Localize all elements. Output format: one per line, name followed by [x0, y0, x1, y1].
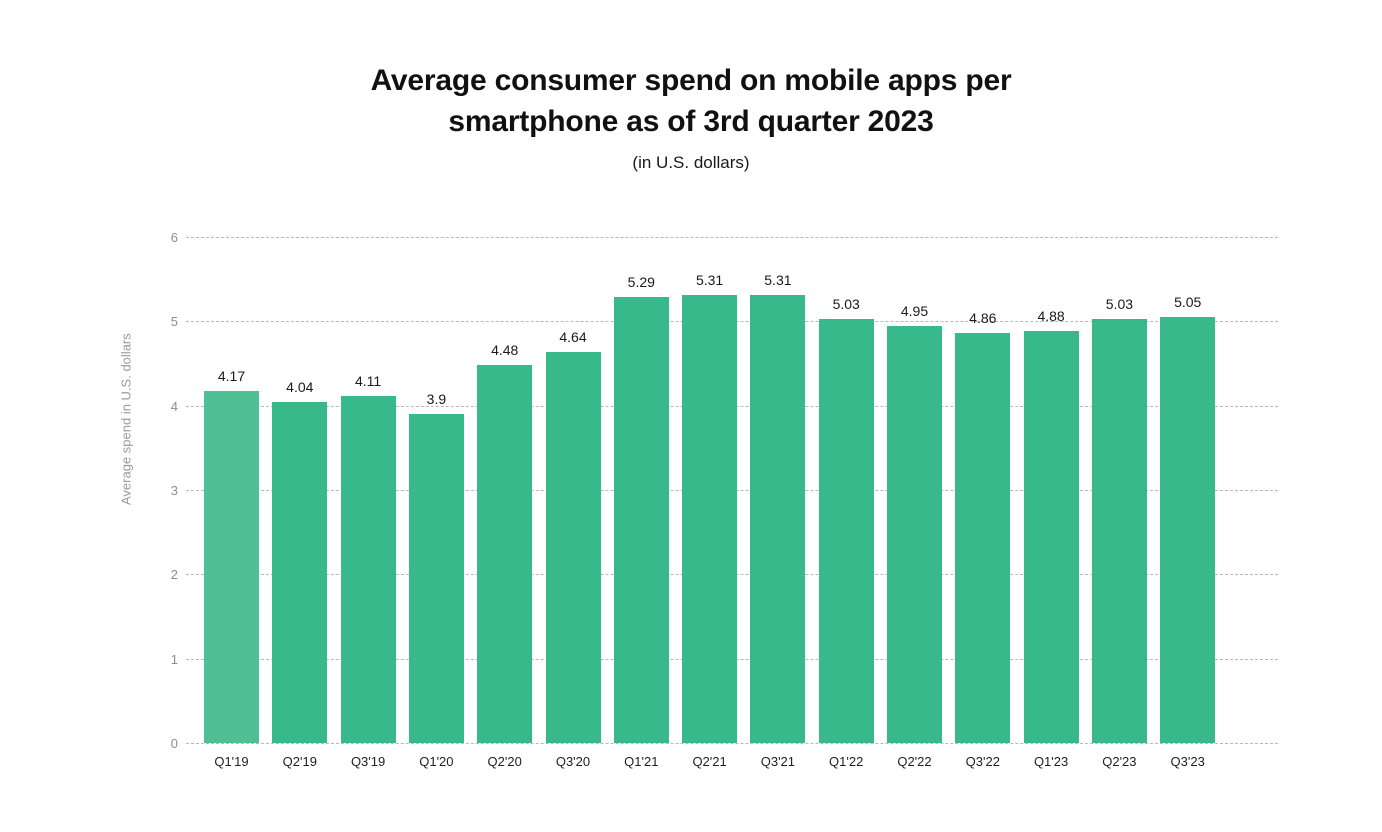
y-tick-label: 2: [138, 568, 178, 581]
bar[interactable]: [1160, 317, 1215, 743]
bar[interactable]: [750, 295, 805, 743]
bar-value-label: 5.31: [670, 273, 749, 287]
x-tick-label: Q2'19: [260, 755, 339, 768]
y-tick-label: 4: [138, 400, 178, 413]
x-tick-label: Q1'19: [192, 755, 271, 768]
y-axis-title: Average spend in U.S. dollars: [119, 475, 134, 505]
bar[interactable]: [477, 365, 532, 743]
x-tick-label: Q2'22: [875, 755, 954, 768]
chart-container: Average consumer spend on mobile apps pe…: [0, 0, 1382, 832]
bar-value-label: 5.29: [602, 275, 681, 289]
x-tick-label: Q3'23: [1148, 755, 1227, 768]
bar[interactable]: [955, 333, 1010, 743]
x-tick-label: Q1'21: [602, 755, 681, 768]
bar[interactable]: [682, 295, 737, 743]
gridline: [186, 237, 1278, 238]
bar[interactable]: [341, 396, 396, 743]
bar-value-label: 4.04: [260, 380, 339, 394]
x-tick-label: Q3'20: [534, 755, 613, 768]
bar[interactable]: [272, 402, 327, 743]
bar-value-label: 4.17: [192, 369, 271, 383]
bar-value-label: 4.11: [329, 374, 408, 388]
plot-area: Average spend in U.S. dollars 0123456 4.…: [0, 0, 1382, 832]
x-tick-label: Q3'22: [943, 755, 1022, 768]
x-tick-label: Q1'22: [807, 755, 886, 768]
bar[interactable]: [1092, 319, 1147, 743]
x-tick-label: Q1'20: [397, 755, 476, 768]
bar[interactable]: [1024, 331, 1079, 743]
bar[interactable]: [409, 414, 464, 743]
y-tick-label: 5: [138, 315, 178, 328]
bar-value-label: 4.48: [465, 343, 544, 357]
bar[interactable]: [204, 391, 259, 743]
y-tick-label: 0: [138, 737, 178, 750]
bar-value-label: 5.03: [1080, 297, 1159, 311]
bar-value-label: 5.31: [738, 273, 817, 287]
bar-value-label: 5.05: [1148, 295, 1227, 309]
bar-value-label: 4.88: [1012, 309, 1091, 323]
gridline: [186, 743, 1278, 744]
x-tick-label: Q2'20: [465, 755, 544, 768]
bar[interactable]: [546, 352, 601, 743]
x-tick-label: Q1'23: [1012, 755, 1091, 768]
y-tick-label: 1: [138, 653, 178, 666]
x-tick-label: Q2'23: [1080, 755, 1159, 768]
x-tick-label: Q2'21: [670, 755, 749, 768]
bar-value-label: 4.86: [943, 311, 1022, 325]
bar-value-label: 4.64: [534, 330, 613, 344]
bar[interactable]: [614, 297, 669, 743]
bar[interactable]: [819, 319, 874, 743]
bar[interactable]: [887, 326, 942, 743]
bar-value-label: 4.95: [875, 304, 954, 318]
x-tick-label: Q3'19: [329, 755, 408, 768]
y-tick-label: 6: [138, 231, 178, 244]
bar-value-label: 3.9: [397, 392, 476, 406]
y-tick-label: 3: [138, 484, 178, 497]
x-tick-label: Q3'21: [738, 755, 817, 768]
bar-value-label: 5.03: [807, 297, 886, 311]
